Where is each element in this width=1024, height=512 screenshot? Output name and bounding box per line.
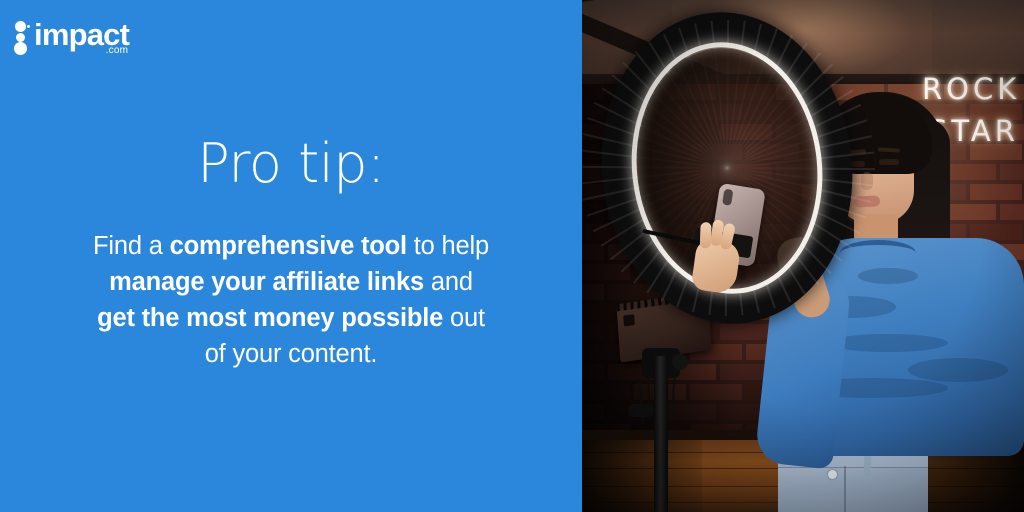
jeans-button: [828, 470, 837, 479]
body-line4-bold: possible: [341, 304, 443, 332]
studio-photo: ROCK STAR: [582, 0, 1024, 512]
jeans-belt-loop: [864, 456, 871, 476]
body-line1-prefix: Find a: [93, 232, 170, 260]
body-line1-suffix: to: [407, 232, 435, 260]
body-line2-bold: manage your affiliate links: [109, 268, 424, 296]
phone-camera: [722, 189, 733, 206]
body-line1-bold: comprehensive tool: [170, 232, 407, 260]
body-line3-prefix: and: [431, 268, 473, 296]
page-title: Pro tip:: [197, 134, 384, 194]
body-copy: Find a comprehensive tool to help manage…: [91, 228, 491, 372]
nose: [861, 172, 873, 190]
eye: [879, 159, 899, 165]
sweatshirt-collar: [840, 240, 916, 266]
body-line2-prefix: help: [442, 232, 489, 260]
tripod-knob: [672, 354, 688, 370]
jeans-seam: [844, 466, 846, 512]
floor-shadow-left: [582, 440, 702, 512]
neon-sign-rock: ROCK: [922, 72, 1020, 106]
body-line3-bold: get the most money: [97, 304, 334, 332]
tripod-column: [654, 356, 668, 512]
tripod-lock: [628, 404, 654, 417]
text-block: Pro tip: Find a comprehensive tool to he…: [0, 0, 582, 512]
left-content-panel: impact .com Pro tip: Find a comprehensiv…: [0, 0, 582, 512]
promo-graphic: impact .com Pro tip: Find a comprehensiv…: [0, 0, 1024, 512]
